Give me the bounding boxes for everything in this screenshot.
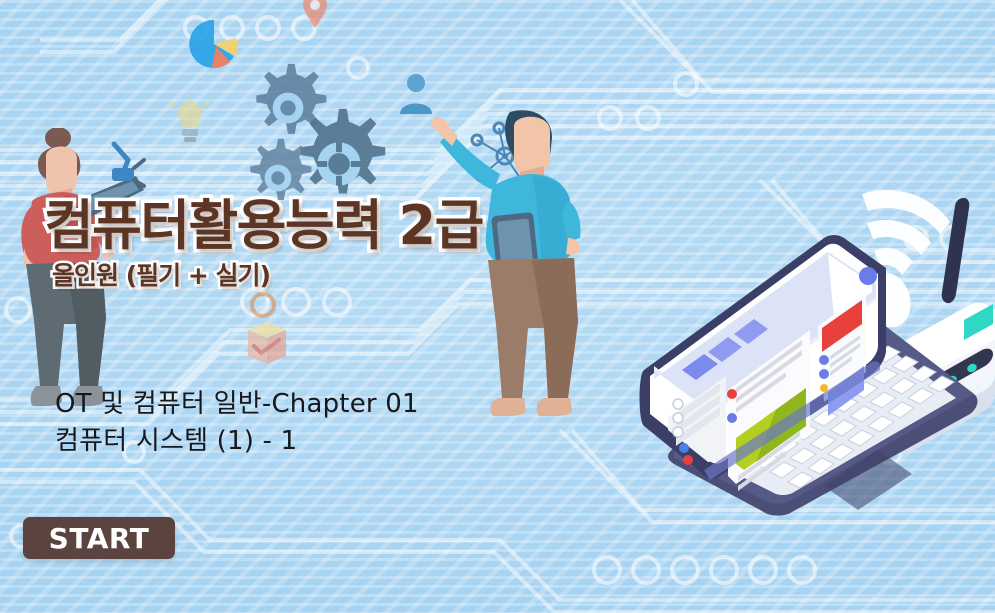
start-button[interactable]: START (23, 517, 175, 559)
package-check-icon (245, 320, 289, 368)
user-person-icon (398, 72, 434, 116)
device-cluster-illustration (596, 180, 995, 525)
light-bulb-icon (170, 95, 210, 147)
page-title: 컴퓨터활용능력 2급 (44, 199, 483, 253)
slide-canvas: 컴퓨터활용능력 2급 올인원 (필기 + 실기) OT 및 컴퓨터 일반-Cha… (0, 0, 995, 613)
pie-chart-icon (186, 16, 242, 72)
lesson-info: OT 및 컴퓨터 일반-Chapter 01 컴퓨터 시스템 (1) - 1 (55, 386, 419, 460)
location-pin-icon (300, 0, 330, 28)
page-subtitle: 올인원 (필기 + 실기) (52, 263, 483, 288)
lesson-topic-line: 컴퓨터 시스템 (1) - 1 (55, 423, 419, 460)
ring-icon (248, 290, 278, 320)
title-block: 컴퓨터활용능력 2급 올인원 (필기 + 실기) (44, 199, 483, 288)
start-button-label: START (49, 522, 150, 555)
lesson-chapter-line: OT 및 컴퓨터 일반-Chapter 01 (55, 386, 419, 423)
laptop-illustration (640, 235, 978, 516)
